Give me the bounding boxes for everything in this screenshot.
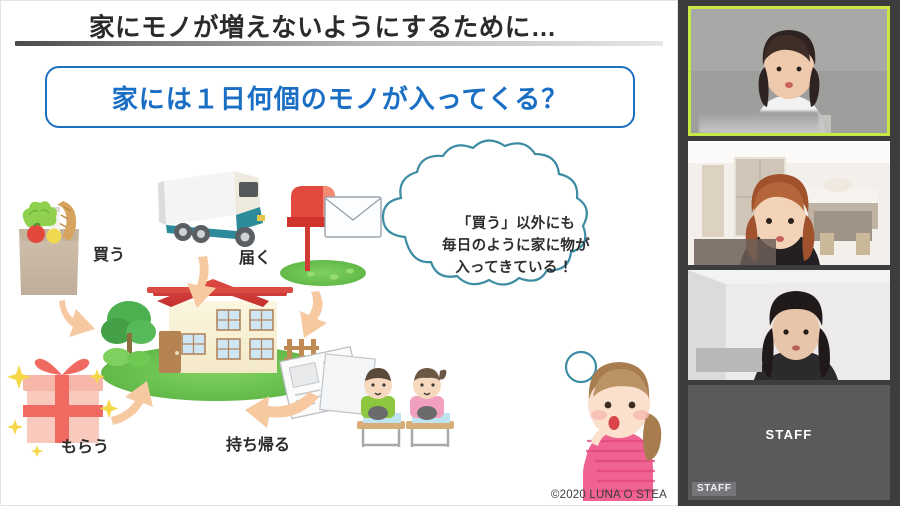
participant-2-image xyxy=(688,141,890,265)
video-tile-participant-3[interactable] xyxy=(688,270,890,380)
presentation-slide: 家にモノが増えないようにするために… 家には１日何個のモノが入ってくる？ xyxy=(0,0,678,506)
mailbox-icon xyxy=(280,186,366,286)
thinking-girl-icon xyxy=(583,362,661,501)
envelope-icon xyxy=(325,197,381,237)
copyright-notice: ©2020 LUNA O STEA xyxy=(551,489,667,501)
video-feed-3 xyxy=(688,270,890,380)
bubble-line-1: 「買う」以外にも xyxy=(396,213,636,235)
laptop-blur-1 xyxy=(699,111,819,133)
video-tile-participant-1[interactable] xyxy=(688,6,890,136)
slide-title: 家にモノが増えないようにするために… xyxy=(89,7,557,44)
cycle-arrows xyxy=(59,183,327,428)
video-feed-2 xyxy=(688,141,890,265)
title-divider xyxy=(15,41,663,46)
cycle-label-bring-home: 持ち帰る xyxy=(226,431,290,455)
bubble-line-3: 入ってきている ！ xyxy=(396,257,636,279)
video-feed-staff: STAFF STAFF xyxy=(688,385,890,500)
video-tile-participant-2[interactable] xyxy=(688,141,890,265)
staff-center-label: STAFF xyxy=(688,427,890,442)
house-icon xyxy=(101,279,331,401)
participant-3-image xyxy=(688,270,890,380)
cycle-label-receive: もらう xyxy=(61,433,109,457)
video-tile-staff[interactable]: STAFF STAFF xyxy=(688,385,890,500)
grocery-bag-icon xyxy=(19,201,79,295)
screen-root: 家にモノが増えないようにするために… 家には１日何個のモノが入ってくる？ xyxy=(0,0,900,506)
question-box-text: 家には１日何個のモノが入ってくる？ xyxy=(47,68,633,126)
delivery-truck-icon xyxy=(158,171,265,247)
thought-bubble-text: 「買う」以外にも 毎日のように家に物が 入ってきている ！ xyxy=(396,213,636,279)
bubble-line-2: 毎日のように家に物が xyxy=(396,235,636,257)
cycle-label-delivered: 届く xyxy=(239,244,271,268)
video-feed-1 xyxy=(691,9,887,133)
cycle-label-buy: 買う xyxy=(93,241,125,265)
question-box: 家には１日何個のモノが入ってくる？ xyxy=(45,66,635,128)
video-participants-panel: STAFF STAFF xyxy=(678,0,900,506)
newspaper-icon xyxy=(280,347,375,419)
staff-name-badge: STAFF xyxy=(692,482,736,497)
school-kids-icon xyxy=(357,368,454,447)
